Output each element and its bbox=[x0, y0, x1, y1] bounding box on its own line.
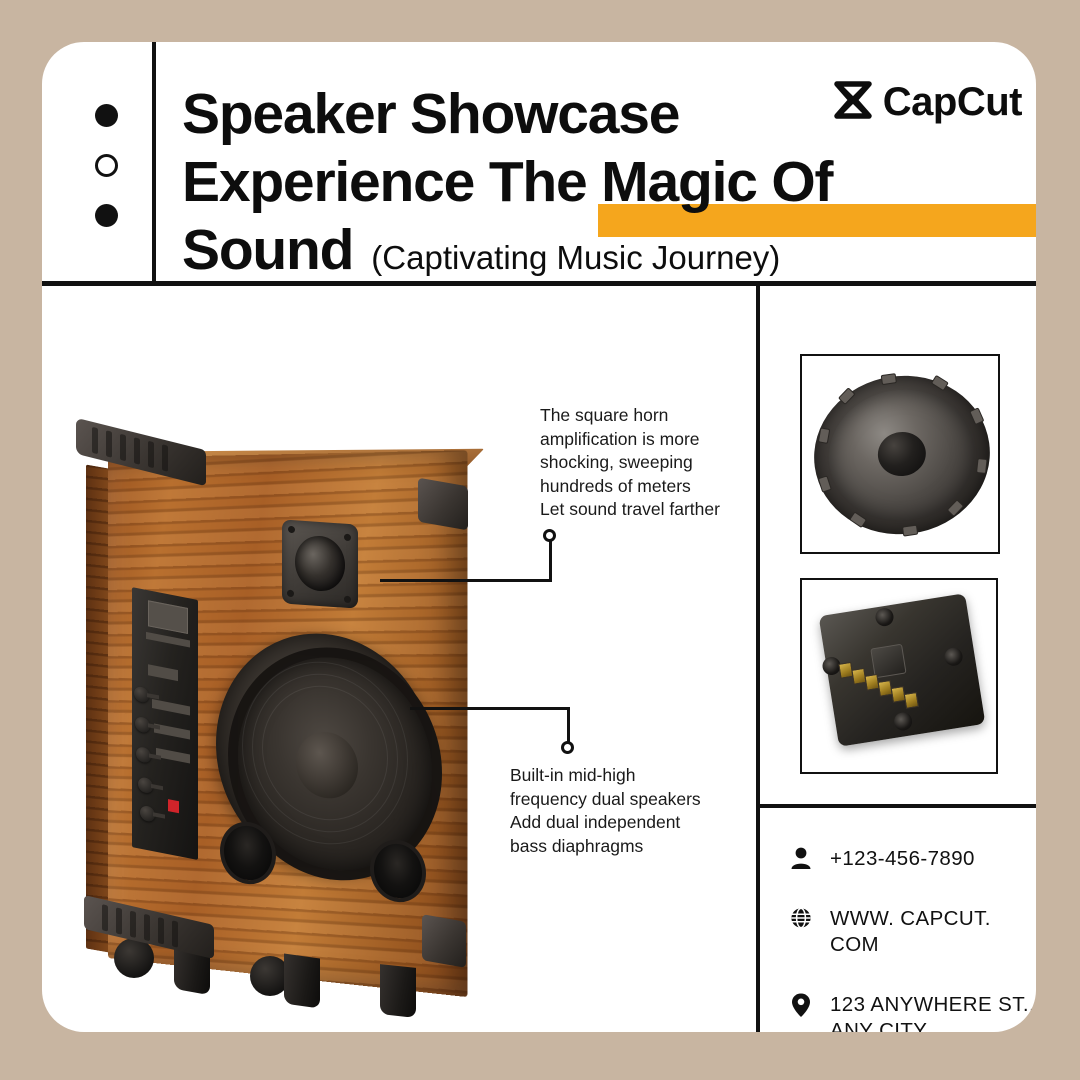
panel-knob-4 bbox=[138, 776, 153, 794]
cabinet-foot-2 bbox=[284, 953, 320, 1008]
body-area: The square horn amplification is more sh… bbox=[42, 286, 1036, 1032]
corner-guard-top-right bbox=[418, 478, 468, 531]
brand-logo[interactable]: CapCut bbox=[833, 80, 1022, 125]
product-thumb-driver[interactable] bbox=[800, 354, 1000, 554]
sidebar-divider bbox=[760, 804, 1036, 808]
poster-card: Speaker Showcase Experience The Magic Of… bbox=[42, 42, 1036, 1032]
panel-knob-5 bbox=[140, 805, 155, 823]
contact-block: +123-456-7890 bbox=[790, 846, 1036, 1032]
location-icon bbox=[790, 992, 812, 1018]
brand-name: CapCut bbox=[883, 80, 1022, 125]
panel-strip-5 bbox=[156, 748, 190, 764]
callout-woofer: Built-in mid-high frequency dual speaker… bbox=[510, 764, 735, 858]
speaker-illustration bbox=[70, 422, 500, 1022]
header: Speaker Showcase Experience The Magic Of… bbox=[42, 42, 1036, 283]
panel-led-indicator bbox=[168, 799, 179, 813]
panel-display bbox=[148, 600, 188, 634]
person-icon bbox=[790, 846, 812, 872]
panel-knob-3 bbox=[136, 746, 151, 764]
driver-dust-cap bbox=[875, 429, 929, 479]
globe-icon bbox=[790, 906, 812, 932]
header-dot-group bbox=[86, 104, 126, 227]
dot-filled-top bbox=[95, 104, 118, 127]
panel-knob-1 bbox=[134, 686, 149, 704]
subtitle: (Captivating Music Journey) bbox=[371, 238, 780, 278]
contact-address[interactable]: 123 ANYWHERE ST., ANY CITY bbox=[790, 992, 1036, 1032]
panel-strip-2 bbox=[148, 664, 178, 681]
dot-hollow-middle bbox=[95, 154, 118, 177]
control-panel bbox=[132, 587, 198, 860]
title-line-3: Sound bbox=[182, 216, 353, 284]
cabinet-foot-3 bbox=[380, 964, 416, 1018]
capcut-hourglass-icon bbox=[833, 81, 873, 124]
title-line-3-row: Sound (Captivating Music Journey) bbox=[182, 216, 1036, 284]
sidebar: +123-456-7890 bbox=[760, 286, 1036, 1032]
caster-wheel-left bbox=[114, 938, 154, 978]
title-line-2: Experience The Magic Of bbox=[182, 148, 1036, 216]
tweeter-horn bbox=[282, 519, 358, 608]
contact-phone-text: +123-456-7890 bbox=[830, 846, 975, 872]
dot-filled-bottom bbox=[95, 204, 118, 227]
contact-phone[interactable]: +123-456-7890 bbox=[790, 846, 1036, 872]
contact-website[interactable]: WWW. CAPCUT. COM bbox=[790, 906, 1036, 958]
speaker-driver-image bbox=[804, 365, 1000, 546]
panel-strip-1 bbox=[146, 632, 190, 648]
product-thumb-module[interactable] bbox=[800, 578, 998, 774]
callout-tweeter: The square horn amplification is more sh… bbox=[540, 404, 755, 522]
crossover-module-image bbox=[819, 593, 986, 747]
corner-guard-bottom-right bbox=[422, 914, 466, 968]
panel-knob-2 bbox=[135, 716, 150, 734]
contact-address-text: 123 ANYWHERE ST., ANY CITY bbox=[830, 992, 1035, 1032]
header-vertical-divider bbox=[152, 42, 156, 283]
speaker-showcase-panel: The square horn amplification is more sh… bbox=[42, 286, 756, 1032]
contact-website-text: WWW. CAPCUT. COM bbox=[830, 906, 1036, 958]
panel-strip-3 bbox=[152, 699, 190, 715]
